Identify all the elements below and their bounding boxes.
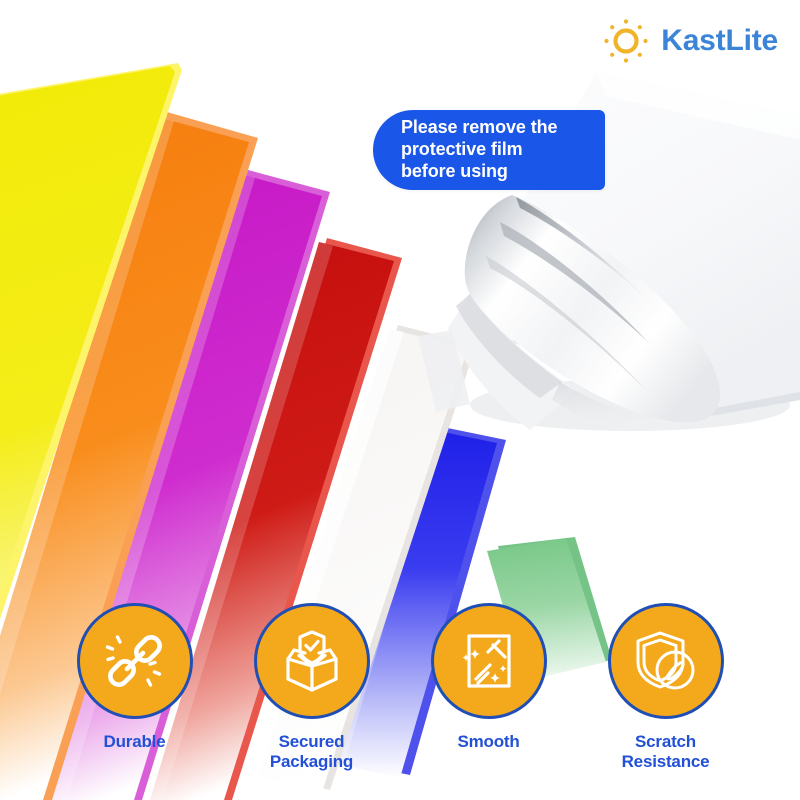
chain-link-icon: [98, 624, 172, 698]
protective-film-flap: [448, 195, 720, 430]
feature-icon-circle: [608, 603, 724, 719]
shield-blade-icon: [629, 624, 703, 698]
shield-box-icon: [275, 624, 349, 698]
feature-label: Secured Packaging: [270, 732, 353, 772]
protective-film-callout: Please remove the protective film before…: [373, 110, 605, 190]
clear-sheet-shadow: [470, 379, 790, 431]
feature-label: Scratch Resistance: [622, 732, 710, 772]
sparkle-panel-icon: [452, 624, 526, 698]
product-marketing-image: KastLite Please remove the protective fi…: [0, 0, 800, 800]
brand-name: KastLite: [661, 26, 778, 56]
feature-secured-packaging: Secured Packaging: [234, 603, 389, 772]
feature-smooth: Smooth: [411, 603, 566, 772]
feature-durable: Durable: [57, 603, 212, 772]
feature-icon-circle: [254, 603, 370, 719]
feature-label: Smooth: [457, 732, 519, 752]
feature-icon-circle: [77, 603, 193, 719]
feature-badges: Durable Secured Packaging: [0, 603, 800, 772]
sun-icon: [601, 16, 651, 66]
callout-text: Please remove the protective film before…: [401, 117, 557, 183]
feature-label: Durable: [104, 732, 166, 752]
feature-icon-circle: [431, 603, 547, 719]
brand-logo: KastLite: [601, 16, 778, 66]
feature-scratch-resistance: Scratch Resistance: [588, 603, 743, 772]
clear-sheet-offcut: [418, 330, 470, 412]
